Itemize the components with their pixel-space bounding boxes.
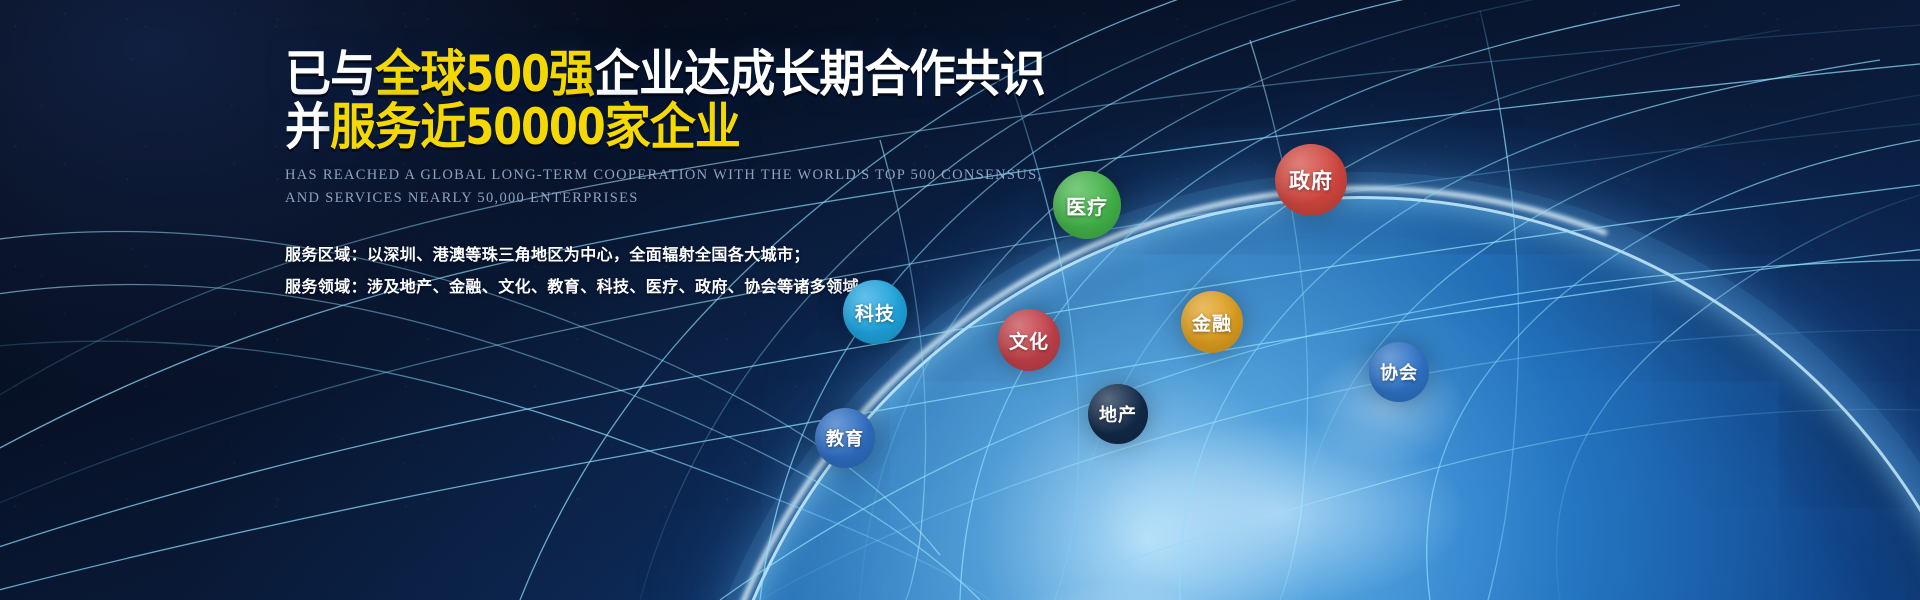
industry-node-label: 教育 bbox=[826, 425, 864, 451]
industry-node[interactable]: 医疗 bbox=[1053, 171, 1121, 239]
industry-node-label: 医疗 bbox=[1066, 191, 1108, 220]
industry-node[interactable]: 文化 bbox=[998, 309, 1060, 371]
copy-block: 已与全球500强企业达成长期合作共识 并服务近50000家企业 HAS REAC… bbox=[285, 48, 1045, 303]
industry-node[interactable]: 协会 bbox=[1369, 342, 1429, 402]
industry-node[interactable]: 科技 bbox=[843, 280, 907, 344]
industry-node-label: 科技 bbox=[855, 299, 895, 326]
industry-node[interactable]: 政府 bbox=[1275, 144, 1347, 216]
industry-node[interactable]: 金融 bbox=[1181, 291, 1243, 353]
english-subtitle-line-2: AND SERVICES NEARLY 50,000 ENTERPRISES bbox=[285, 187, 1045, 210]
industry-node-label: 协会 bbox=[1380, 359, 1418, 385]
industry-node-label: 地产 bbox=[1099, 401, 1137, 427]
headline-segment: 已与 bbox=[285, 45, 375, 103]
headline-segment: 企业达成长期合作共识 bbox=[594, 45, 1045, 103]
industry-node[interactable]: 地产 bbox=[1088, 384, 1148, 444]
industry-node[interactable]: 教育 bbox=[815, 408, 875, 468]
headline-segment-highlight: 服务近50000家企业 bbox=[330, 98, 740, 156]
headline-line-1: 已与全球500强企业达成长期合作共识 bbox=[285, 48, 984, 101]
english-subtitle: HAS REACHED A GLOBAL LONG-TERM COOPERATI… bbox=[285, 164, 1045, 211]
headline-line-2: 并服务近50000家企业 bbox=[285, 101, 984, 154]
promo-banner: 已与全球500强企业达成长期合作共识 并服务近50000家企业 HAS REAC… bbox=[0, 0, 1920, 600]
industry-node-label: 政府 bbox=[1289, 165, 1333, 195]
service-field-line: 服务领域：涉及地产、金融、文化、教育、科技、医疗、政府、协会等诸多领域。 bbox=[285, 271, 1045, 303]
body-copy: 服务区域：以深圳、港澳等珠三角地区为中心，全面辐射全国各大城市； 服务领域：涉及… bbox=[285, 239, 1045, 303]
headline-segment: 并 bbox=[285, 98, 330, 156]
industry-node-label: 金融 bbox=[1192, 309, 1232, 336]
service-area-line: 服务区域：以深圳、港澳等珠三角地区为中心，全面辐射全国各大城市； bbox=[285, 239, 1045, 271]
headline-segment-highlight: 全球500强 bbox=[375, 45, 594, 103]
english-subtitle-line-1: HAS REACHED A GLOBAL LONG-TERM COOPERATI… bbox=[285, 164, 1045, 187]
industry-node-label: 文化 bbox=[1009, 327, 1049, 354]
